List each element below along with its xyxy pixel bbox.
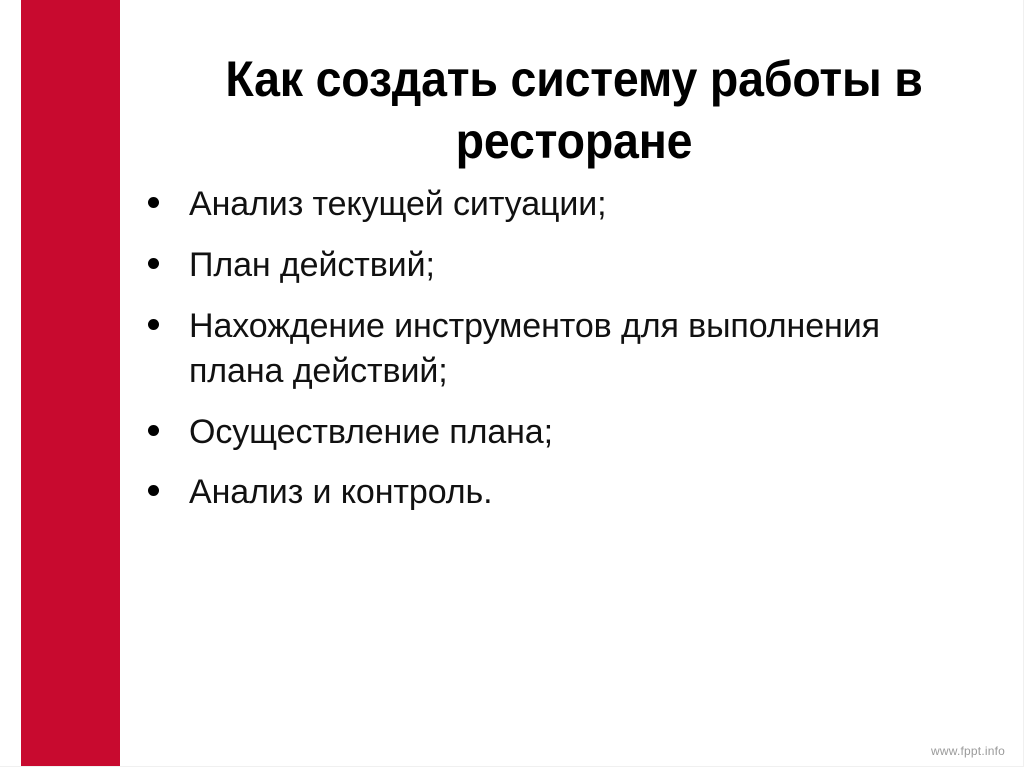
bullet-point-icon bbox=[148, 258, 159, 269]
list-item-label: Анализ и контроль. bbox=[189, 473, 492, 511]
watermark-text: www.fppt.info bbox=[931, 744, 1005, 758]
list-item: План действий; bbox=[144, 243, 904, 288]
bullet-point-icon bbox=[148, 485, 159, 496]
list-item: Нахождение инструментов для выполнения п… bbox=[144, 304, 904, 394]
accent-band bbox=[21, 0, 120, 767]
list-item-label: План действий; bbox=[189, 246, 435, 284]
list-item: Осуществление плана; bbox=[144, 410, 904, 455]
bullet-list: Анализ текущей ситуации; План действий; … bbox=[144, 182, 904, 515]
list-item-label: Нахождение инструментов для выполнения п… bbox=[189, 307, 880, 390]
bullet-point-icon bbox=[148, 197, 159, 208]
presentation-slide: Как создать систему работы в ресторане А… bbox=[0, 0, 1024, 767]
list-item: Анализ и контроль. bbox=[144, 470, 904, 515]
bullet-point-icon bbox=[148, 425, 159, 436]
list-item: Анализ текущей ситуации; bbox=[144, 182, 904, 227]
list-item-label: Осуществление плана; bbox=[189, 413, 553, 451]
list-item-label: Анализ текущей ситуации; bbox=[189, 185, 607, 223]
slide-title: Как создать систему работы в ресторане bbox=[178, 48, 970, 172]
bullet-point-icon bbox=[148, 319, 159, 330]
